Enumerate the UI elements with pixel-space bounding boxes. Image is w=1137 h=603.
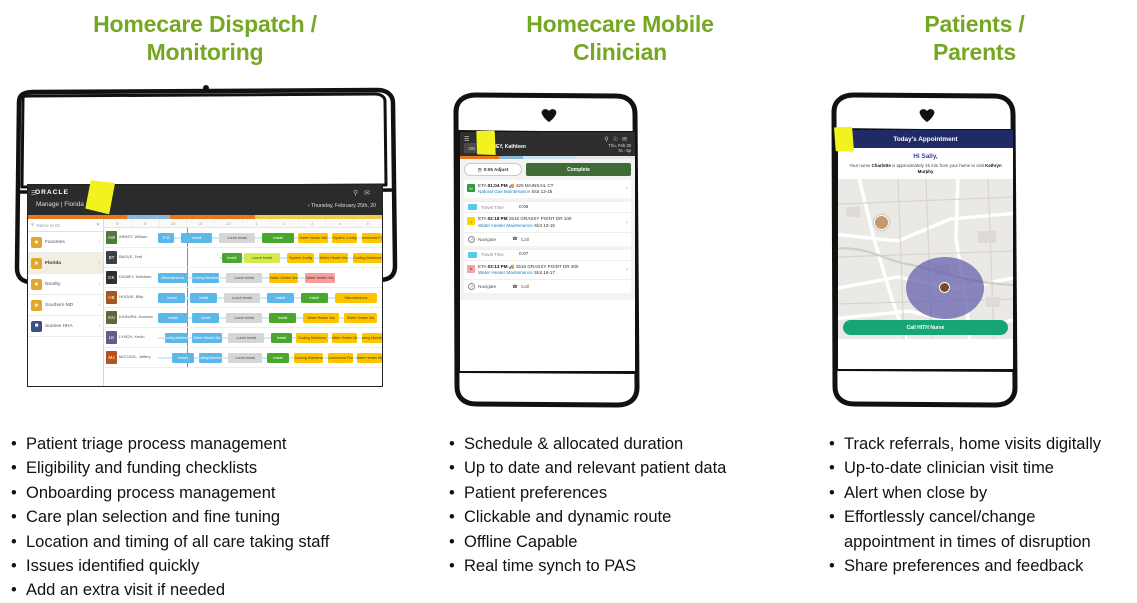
bullet-icon: • <box>11 530 17 554</box>
avatar: KN <box>106 311 117 324</box>
gantt-task[interactable]: Commercial Fuel <box>362 233 382 243</box>
gantt-task[interactable]: Lunch break <box>224 293 260 303</box>
benefits-list-dispatch: •Patient triage process management •Elig… <box>6 432 406 603</box>
gantt-task[interactable]: Install <box>222 253 242 263</box>
table-row[interactable]: DK DISNEY, Kathleen Miscellaneous Coolin… <box>104 268 382 288</box>
bullet-icon: • <box>449 530 455 554</box>
stop-details: ETA 03:13 PM 🚚 2516 GRASSY POINT DR 200 … <box>478 264 623 276</box>
stop-slot: Slot 13-15 <box>534 223 555 228</box>
gantt-task[interactable]: Cooling Maintena <box>199 353 222 363</box>
eta-value: 01:04 PM <box>488 183 508 188</box>
travel-time-label: Travel Time <box>481 252 515 257</box>
list-item: •Up to date and relevant patient data <box>444 456 814 480</box>
list-item-label: Effortlessly cancel/change <box>844 508 1035 526</box>
sidebar-item-label: Southern MD <box>45 303 95 308</box>
stop-actions: ↗ Navigate ☎ Call <box>464 232 631 246</box>
list-item: •Issues identified quickly <box>6 554 406 578</box>
clock-icon: ◷ <box>478 167 482 173</box>
gantt-task[interactable]: Cooling Maintena <box>165 333 188 343</box>
list-item: •Offline Capable <box>444 530 814 554</box>
stop-address: 425 MAINSAIL CT <box>516 183 554 188</box>
column-title-dispatch: Homecare Dispatch / Monitoring <box>0 0 410 66</box>
desktop-monitor-sketch: ☰ ORACLE Manage | Florida ⚲✉ ‹ Thursday,… <box>5 84 405 424</box>
gantt-task[interactable]: Water Heater Ma <box>192 333 221 343</box>
van-icon <box>468 252 477 258</box>
bullet-icon: • <box>829 505 835 529</box>
oracle-logo: ORACLE <box>35 189 69 196</box>
list-item-label: Patient triage process management <box>26 435 286 453</box>
gantt-track[interactable]: Install Lunch break System Config Water … <box>156 248 382 268</box>
gantt-track[interactable]: ETA Install Lunch break Install Water He… <box>156 228 382 248</box>
gantt-task[interactable]: Lunch break <box>226 273 262 283</box>
column-clinician: Homecare Mobile Clinician ☰ ⚲☉✉ OK DISNE… <box>430 0 810 601</box>
travel-time-row: Travel Time 0:06 <box>464 201 631 213</box>
chevron-right-icon[interactable]: › <box>626 267 628 273</box>
hour-tick: 8 <box>104 219 132 227</box>
bullet-icon: • <box>11 481 17 505</box>
travel-time-label: Travel Time <box>481 205 515 210</box>
avatar[interactable] <box>874 215 889 230</box>
gantt-task[interactable]: ETA <box>158 233 174 243</box>
benefits-list-patients: •Track referrals, home visits digitally … <box>824 432 1137 578</box>
sidebar-item-label: Nearby <box>45 282 95 287</box>
list-item-label: Alert when close by <box>844 484 987 502</box>
resource-cell[interactable]: AW ARNDT, William <box>104 231 156 244</box>
eta-message: Your nurse Charlotte is approximately 15… <box>838 163 1013 179</box>
chevron-right-icon[interactable]: › <box>98 281 100 287</box>
eta-message-pre: Your nurse <box>849 163 871 168</box>
list-item: •Location and timing of all care taking … <box>6 530 406 554</box>
sidebar-item-label: Florida <box>45 261 95 266</box>
call-label: Call <box>521 237 529 242</box>
phone-icon: ☎ <box>512 284 518 290</box>
list-item-label: Offline Capable <box>464 533 577 551</box>
patient-app-header: ‹ Today's Appointment <box>838 130 1013 148</box>
stop-summary[interactable]: I ETA 02:18 PM 2516 GRASSY POINT DR 100 … <box>464 213 631 231</box>
adjust-button[interactable]: ◷ 0:06 Adjust <box>464 163 522 176</box>
call-nurse-button[interactable]: Call HITH Nurse <box>843 320 1008 335</box>
call-button[interactable]: ☎ Call <box>512 283 529 290</box>
gantt-task[interactable]: Water Heater Ma <box>319 253 348 263</box>
star-icon: ★ <box>31 279 42 290</box>
column-title-line1: Homecare Mobile <box>430 10 810 38</box>
clinician-app-screen[interactable]: ☰ ⚲☉✉ OK DISNEY, Kathleen Thu, Feb 25 7a… <box>459 131 636 372</box>
call-label: Call <box>521 284 529 289</box>
gantt-task[interactable]: System Config <box>287 253 314 263</box>
list-item: •Add an extra visit if needed <box>6 578 406 602</box>
list-item: •Clickable and dynamic route <box>444 505 814 529</box>
star-icon: ★ <box>31 300 42 311</box>
navigate-icon: ↗ <box>468 283 475 290</box>
list-item-continuation: appointment in times of disruption <box>824 530 1137 554</box>
adjust-button-label: 0:06 Adjust <box>484 167 509 172</box>
stop-worktype: Water Heater Maintenance <box>478 223 533 228</box>
bullet-icon: • <box>449 432 455 456</box>
travel-time-value: 0:06 <box>519 205 528 210</box>
column-title-line2: Parents <box>812 38 1137 66</box>
chevron-right-icon[interactable]: › <box>98 239 100 245</box>
column-title-patients: Patients / Parents <box>812 0 1137 66</box>
gantt-task[interactable]: Water Heater Ma <box>332 333 357 343</box>
navigate-label: Navigate <box>478 284 496 289</box>
greeting: Hi Sally, <box>838 148 1013 163</box>
list-item[interactable]: Travel Time 0:06 I ETA 02:18 PM 2516 GRA… <box>464 201 631 245</box>
resource-cell[interactable]: DK DISNEY, Kathleen <box>104 271 156 284</box>
gantt-task[interactable]: Install <box>269 313 296 323</box>
list-item-label: Clickable and dynamic route <box>464 508 671 526</box>
chevron-right-icon[interactable]: › <box>98 260 100 266</box>
gantt-task[interactable]: Install <box>301 293 328 303</box>
search-icon: ⚲ <box>31 222 34 228</box>
list-item: •Care plan selection and fine tuning <box>6 505 406 529</box>
chevron-right-icon[interactable]: › <box>98 323 100 329</box>
eta-value: 03:13 PM <box>488 264 508 269</box>
hour-tick: 2 <box>271 219 299 227</box>
date-navigator-label: Thursday, February 25th, 20 <box>311 203 376 209</box>
bullet-icon: • <box>11 505 17 529</box>
dispatch-app-screen[interactable]: ☰ ORACLE Manage | Florida ⚲✉ ‹ Thursday,… <box>27 184 383 387</box>
list-item: •Up-to-date clinician visit time <box>824 456 1137 480</box>
eta-label: ETA <box>478 216 486 221</box>
hamburger-icon[interactable]: ☰ <box>464 136 469 143</box>
eta-label: ETA <box>478 183 486 188</box>
hour-tick: 10 <box>160 219 188 227</box>
search-placeholder: Name or ID <box>36 223 94 228</box>
column-dispatch: Homecare Dispatch / Monitoring <box>0 0 410 601</box>
gantt-task[interactable]: Miscellaneous <box>335 293 378 303</box>
list-item: •Effortlessly cancel/change <box>824 505 1137 529</box>
list-item-label: Share preferences and feedback <box>844 557 1083 575</box>
live-map[interactable]: Call HITH Nurse <box>838 179 1013 339</box>
eta-label: ETA <box>478 264 486 269</box>
resource-name: LYNCH, Kevin <box>119 335 145 340</box>
table-row[interactable]: AW ARNDT, William ETA Install Lunch brea… <box>104 228 382 248</box>
navigate-label: Navigate <box>478 237 496 242</box>
resource-name: BAGLE, Terri <box>119 255 142 260</box>
gantt-task[interactable]: Water Heater Ma <box>298 233 327 243</box>
stop-summary[interactable]: M ETA 01:04 PM 🚚 425 MAINSAIL CT Natural… <box>464 180 631 198</box>
gantt-task[interactable]: Water Heater Ma <box>305 273 334 283</box>
status-badge: M <box>467 184 475 192</box>
gantt-task[interactable]: Lunch break <box>228 353 262 363</box>
hour-tick: 11 <box>187 219 215 227</box>
column-title-line1: Homecare Dispatch / <box>0 10 410 38</box>
eta-message-mid: is approximately 15 min from your home t… <box>891 163 985 168</box>
table-row[interactable]: BT BAGLE, Terri Install Lunch break Syst… <box>104 248 382 268</box>
column-title-line1: Patients / <box>812 10 1137 38</box>
avatar: HB <box>106 291 117 304</box>
table-row[interactable]: LK LYNCH, Kevin Cooling Maintena Water H… <box>104 328 382 348</box>
column-title-line2: Clinician <box>430 38 810 66</box>
list-item: •Real time synch to PAS <box>444 554 814 578</box>
gantt-task[interactable]: Commercial Fuel <box>328 353 353 363</box>
stop-summary[interactable]: # ETA 03:13 PM 🚚 2516 GRASSY POINT DR 20… <box>464 261 631 279</box>
sidebar-item-sunrise-hha[interactable]: ■ Sunrise HHA › <box>28 316 103 337</box>
route-actions: ◷ 0:06 Adjust Complete <box>464 163 631 176</box>
resource-cell[interactable]: HB HOGUE, Billy <box>104 291 156 304</box>
gantt-task[interactable]: Cooling Maintena <box>192 273 219 283</box>
header-icons[interactable]: ⚲✉ <box>353 189 376 197</box>
gantt-task[interactable]: System Config <box>332 233 357 243</box>
patient-app-screen[interactable]: ‹ Today's Appointment Hi Sally, Your nur… <box>837 129 1014 370</box>
bullet-icon: • <box>11 554 17 578</box>
sidebar-item-southern-md[interactable]: ★ Southern MD › <box>28 295 103 316</box>
stop-slot: Slot 16-17 <box>534 270 555 275</box>
avatar: MJ <box>106 351 117 364</box>
clinician-phone-sketch: ☰ ⚲☉✉ OK DISNEY, Kathleen Thu, Feb 25 7a… <box>430 90 810 420</box>
hour-tick: 4 <box>326 219 354 227</box>
resource-name: MCCOOL, Jeffery <box>119 355 151 360</box>
van-icon <box>468 204 477 210</box>
bullet-icon: • <box>449 481 455 505</box>
gantt-task[interactable]: Install <box>172 353 195 363</box>
gantt-task[interactable]: Water Heater Ma <box>357 353 382 363</box>
list-item-label: Track referrals, home visits digitally <box>844 435 1101 453</box>
hour-tick: 9 <box>132 219 160 227</box>
list-item-label: appointment in times of disruption <box>844 533 1091 551</box>
avatar: BT <box>106 251 117 264</box>
resource-cell[interactable]: MJ MCCOOL, Jeffery <box>104 351 156 364</box>
bullet-icon: • <box>829 432 835 456</box>
breadcrumb: Manage | Florida <box>36 201 84 208</box>
list-item-label: Care plan selection and fine tuning <box>26 508 280 526</box>
list-item-label: Add an extra visit if needed <box>26 581 225 599</box>
bullet-icon: • <box>449 456 455 480</box>
sidebar-item-florida[interactable]: ★ Florida › <box>28 253 103 274</box>
clear-icon[interactable]: ✕ <box>96 222 100 228</box>
column-title-line2: Monitoring <box>0 38 410 66</box>
gantt-task[interactable]: Cooling Maintena <box>362 333 382 343</box>
home-marker[interactable] <box>939 282 950 293</box>
list-item-label: Schedule & allocated duration <box>464 435 683 453</box>
sidebar-item-label: Favorites <box>45 240 95 245</box>
dispatch-app-body: ⚲ Name or ID ✕ ★ Favorites › ★ Florida <box>28 219 382 387</box>
resource-name: KILBURN, Norman <box>119 315 153 320</box>
gantt-track[interactable]: Install Cooling Maintena Lunch break Ins… <box>156 348 382 368</box>
gantt-task[interactable]: Lunch break <box>226 313 262 323</box>
status-badge: I <box>467 217 475 225</box>
chevron-right-icon[interactable]: › <box>98 302 100 308</box>
resource-cell[interactable]: BT BAGLE, Terri <box>104 251 156 264</box>
column-title-clinician: Homecare Mobile Clinician <box>430 0 810 66</box>
list-item-label: Up to date and relevant patient data <box>464 459 726 477</box>
list-item: •Share preferences and feedback <box>824 554 1137 578</box>
capacity-stripe <box>460 156 635 159</box>
gantt-task[interactable]: Water Heater Ma <box>303 313 339 323</box>
resource-tree-sidebar: ⚲ Name or ID ✕ ★ Favorites › ★ Florida <box>28 219 104 387</box>
avatar: AW <box>106 231 117 244</box>
table-row[interactable]: HB HOGUE, Billy Install Install Lunch br… <box>104 288 382 308</box>
navigate-button[interactable]: ↗ Navigate <box>468 236 496 243</box>
travel-time-row: Travel Time 0:07 <box>464 249 631 261</box>
stop-slot: Slot 13-15 <box>531 189 552 194</box>
table-row[interactable]: KN KILBURN, Norman Install Install Lunch… <box>104 308 382 328</box>
avatar: DK <box>106 271 117 284</box>
list-item: •Patient preferences <box>444 481 814 505</box>
stop-address: 2516 GRASSY POINT DR 100 <box>509 216 572 221</box>
stop-worktype: Water Heater Maintenance <box>478 270 533 275</box>
bullet-icon: • <box>829 481 835 505</box>
star-icon: ★ <box>31 258 42 269</box>
bullet-icon: • <box>449 505 455 529</box>
gantt-task[interactable]: Lunch break <box>219 233 255 243</box>
building-icon: ■ <box>31 321 42 332</box>
bullet-icon: • <box>829 554 835 578</box>
resource-name: HOGUE, Billy <box>119 295 143 300</box>
resource-name: DISNEY, Kathleen <box>119 275 151 280</box>
call-button[interactable]: ☎ Call <box>512 236 529 243</box>
gantt-task[interactable]: Install <box>190 293 217 303</box>
nurse-name: Charlotte <box>872 163 891 168</box>
complete-button[interactable]: Complete <box>526 163 631 176</box>
phone-icon: ☎ <box>512 236 518 242</box>
bullet-icon: • <box>11 578 17 602</box>
gantt-task[interactable]: Install <box>267 353 290 363</box>
list-item: •Alert when close by <box>824 481 1137 505</box>
gantt-task[interactable]: Install <box>181 233 213 243</box>
stop-details: ETA 01:04 PM 🚚 425 MAINSAIL CT Natural G… <box>478 183 623 195</box>
list-item-label: Real time synch to PAS <box>464 557 636 575</box>
van-icon: 🚚 <box>509 183 515 188</box>
slide-canvas: Homecare Dispatch / Monitoring <box>0 0 1137 601</box>
patient-phone-sketch: ‹ Today's Appointment Hi Sally, Your nur… <box>812 90 1137 420</box>
list-item: •Patient triage process management <box>6 432 406 456</box>
bullet-icon: • <box>11 456 17 480</box>
gantt-task[interactable]: Install <box>267 293 294 303</box>
navigate-button[interactable]: ↗ Navigate <box>468 283 496 290</box>
route-time-label: 7a - 5p <box>618 148 631 153</box>
gantt-task[interactable]: Install <box>158 293 185 303</box>
gantt-task[interactable]: Lunch break <box>244 253 280 263</box>
sidebar-item-favorites[interactable]: ★ Favorites › <box>28 232 103 253</box>
star-icon: ★ <box>31 237 42 248</box>
list-item-label: Up-to-date clinician visit time <box>844 459 1054 477</box>
gantt-task[interactable]: Cooling Maintena <box>353 253 382 263</box>
dispatch-app-header: ☰ ORACLE Manage | Florida ⚲✉ ‹ Thursday,… <box>28 185 382 215</box>
table-row[interactable]: MJ MCCOOL, Jeffery Install Cooling Maint… <box>104 348 382 368</box>
navigate-icon: ↗ <box>468 236 475 243</box>
header-icons[interactable]: ⚲☉✉ <box>604 136 631 143</box>
hour-tick: 3 <box>299 219 327 227</box>
eta-value: 02:18 PM <box>488 216 508 221</box>
stop-details: ETA 02:18 PM 2516 GRASSY POINT DR 100 Wa… <box>478 216 623 228</box>
resource-cell[interactable]: KN KILBURN, Norman <box>104 311 156 324</box>
gantt-rows: AW ARNDT, William ETA Install Lunch brea… <box>104 228 382 368</box>
list-item-label: Issues identified quickly <box>26 557 199 575</box>
stop-actions: ↗ Navigate ☎ Call <box>464 279 631 293</box>
gantt-task[interactable]: Miscellaneous <box>158 273 187 283</box>
bullet-icon: • <box>829 456 835 480</box>
date-navigator[interactable]: ‹ Thursday, February 25th, 20 <box>308 203 376 209</box>
travel-time-value: 0:07 <box>519 252 528 257</box>
sticky-note <box>475 129 498 157</box>
gantt-task[interactable]: Install <box>271 333 291 343</box>
gantt-task[interactable]: Cooling Maintena <box>294 353 323 363</box>
list-item-label: Patient preferences <box>464 484 607 502</box>
list-item-label: Onboarding process management <box>26 484 275 502</box>
benefits-list-clinician: •Schedule & allocated duration •Up to da… <box>444 432 814 578</box>
list-item: •Onboarding process management <box>6 481 406 505</box>
search-input[interactable]: ⚲ Name or ID ✕ <box>28 219 103 232</box>
route-date: Thu, Feb 25 7a - 5p <box>608 143 631 153</box>
sidebar-item-label: Sunrise HHA <box>45 324 95 329</box>
hour-tick: 12 <box>215 219 243 227</box>
chevron-right-icon[interactable]: › <box>626 186 628 192</box>
gantt-task[interactable]: Water Heater Ma <box>269 273 298 283</box>
gantt-track[interactable]: Cooling Maintena Water Heater Ma Lunch b… <box>156 328 382 348</box>
avatar: LK <box>106 331 117 344</box>
gantt-panel[interactable]: 8 9 10 11 12 1 2 3 4 5 <box>104 219 382 387</box>
gantt-track[interactable]: Install Install Lunch break Install Wate… <box>156 308 382 328</box>
resource-name: ARNDT, William <box>119 235 147 240</box>
list-item-label: Eligibility and funding checklists <box>26 459 257 477</box>
gantt-task[interactable]: Water Heater Ma <box>344 313 378 323</box>
column-patients: Patients / Parents ‹ Today's Appointment… <box>812 0 1137 601</box>
gantt-task[interactable]: Install <box>192 313 219 323</box>
list-item: •Eligibility and funding checklists <box>6 456 406 480</box>
resource-cell[interactable]: LK LYNCH, Kevin <box>104 331 156 344</box>
list-item: •Schedule & allocated duration <box>444 432 814 456</box>
chevron-right-icon[interactable]: › <box>626 220 628 226</box>
list-item[interactable]: Travel Time 0:07 # ETA 03:13 PM 🚚 2516 G… <box>464 249 631 293</box>
bullet-icon: • <box>11 432 17 456</box>
hour-tick: 1 <box>243 219 271 227</box>
stop-worktype: Natural Gas Maintenance <box>478 189 530 194</box>
gantt-track[interactable]: Miscellaneous Cooling Maintena Lunch bre… <box>156 268 382 288</box>
list-item-label: Location and timing of all care taking s… <box>26 533 329 551</box>
bullet-icon: • <box>449 554 455 578</box>
page-title: Today's Appointment <box>893 136 957 143</box>
gantt-task[interactable]: Install <box>158 313 187 323</box>
stop-address: 2516 GRASSY POINT DR 200 <box>516 264 579 269</box>
van-icon: 🚚 <box>509 264 515 269</box>
sidebar-item-nearby[interactable]: ★ Nearby › <box>28 274 103 295</box>
list-item[interactable]: M ETA 01:04 PM 🚚 425 MAINSAIL CT Natural… <box>464 180 631 198</box>
gantt-track[interactable]: Install Install Lunch break Install Inst… <box>156 288 382 308</box>
route-list[interactable]: ◷ 0:06 Adjust Complete M ETA 01:04 PM <box>460 159 635 300</box>
gantt-task[interactable]: Lunch break <box>228 333 264 343</box>
gantt-task[interactable]: Install <box>262 233 294 243</box>
hour-tick: 5 <box>354 219 382 227</box>
list-item: •Track referrals, home visits digitally <box>824 432 1137 456</box>
status-badge: # <box>467 265 475 273</box>
gantt-task[interactable]: Cooling Maintena <box>296 333 328 343</box>
